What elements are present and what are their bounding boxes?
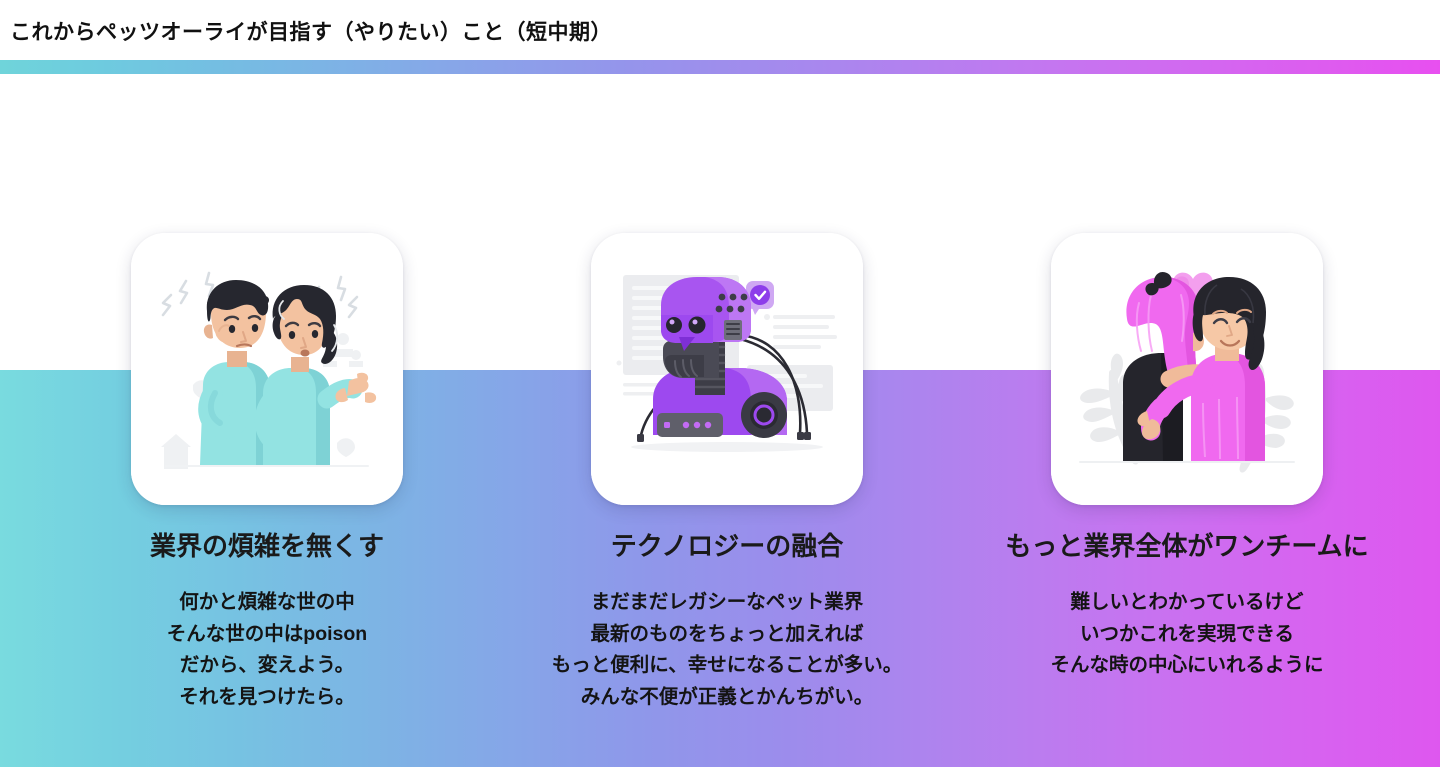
column-1-body: 何かと煩雑な世の中 そんな世の中はpoison だから、変えよう。 それを見つけ… [37, 587, 497, 713]
column-2-body-line: 最新のものをちょっと加えれば [497, 619, 957, 651]
confused-couple-illustration [131, 233, 403, 505]
slide-header: これからペッツオーライが目指す（やりたい）こと（短中期） [0, 0, 1440, 60]
illustration-card-purple-robot [591, 233, 863, 505]
column-2-body: まだまだレガシーなペット業界 最新のものをちょっと加えれば もっと便利に、幸せに… [497, 587, 957, 713]
column-3-body-line: 難しいとわかっているけど [957, 587, 1417, 619]
purple-robot-illustration [591, 233, 863, 505]
column-2-heading: テクノロジーの融合 [497, 531, 957, 562]
column-3: もっと業界全体がワンチームに 難しいとわかっているけど いつかこれを実現できる … [957, 233, 1417, 682]
header-gradient-rule [0, 60, 1440, 74]
column-1-body-line: 何かと煩雑な世の中 [37, 587, 497, 619]
column-1-body-line: そんな世の中はpoison [37, 619, 497, 651]
column-2-body-line: みんな不便が正義とかんちがい。 [497, 682, 957, 714]
column-1-body-line: それを見つけたら。 [37, 682, 497, 714]
column-1: 業界の煩雑を無くす 何かと煩雑な世の中 そんな世の中はpoison だから、変え… [37, 233, 497, 714]
hugging-women-illustration [1051, 233, 1323, 505]
column-3-body-line: そんな時の中心にいれるように [957, 650, 1417, 682]
page-title: これからペッツオーライが目指す（やりたい）こと（短中期） [10, 16, 612, 46]
column-1-heading: 業界の煩雑を無くす [37, 531, 497, 562]
column-3-heading: もっと業界全体がワンチームに [957, 531, 1417, 562]
column-3-body-line: いつかこれを実現できる [957, 619, 1417, 651]
illustration-card-confused-couple [131, 233, 403, 505]
columns-container: 業界の煩雑を無くす 何かと煩雑な世の中 そんな世の中はpoison だから、変え… [0, 0, 1440, 767]
column-2-body-line: まだまだレガシーなペット業界 [497, 587, 957, 619]
illustration-card-hugging-women [1051, 233, 1323, 505]
column-2: テクノロジーの融合 まだまだレガシーなペット業界 最新のものをちょっと加えれば … [497, 233, 957, 714]
column-3-body: 難しいとわかっているけど いつかこれを実現できる そんな時の中心にいれるように [957, 587, 1417, 682]
column-1-body-line: だから、変えよう。 [37, 650, 497, 682]
column-2-body-line: もっと便利に、幸せになることが多い。 [497, 650, 957, 682]
slide-canvas: これからペッツオーライが目指す（やりたい）こと（短中期） [0, 0, 1440, 767]
